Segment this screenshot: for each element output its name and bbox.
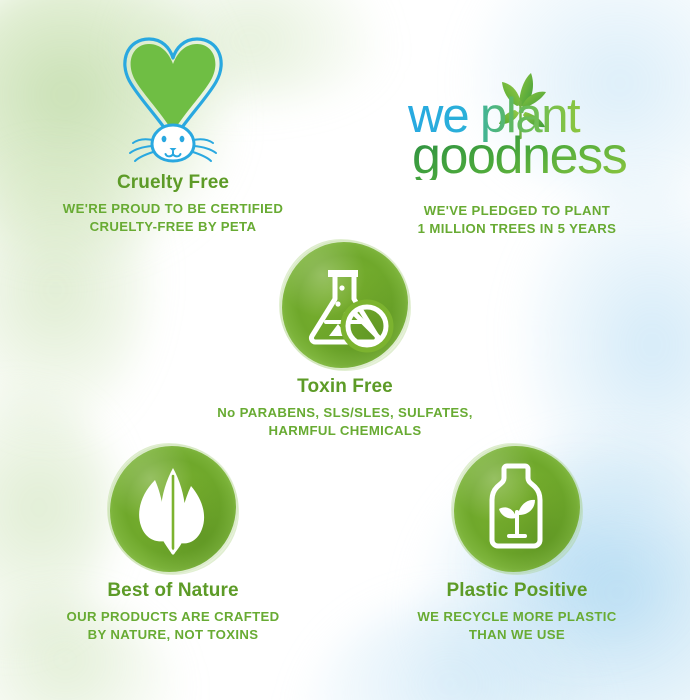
feature-subtitle: WE'RE PROUD TO BE CERTIFIED CRUELTY-FREE…: [8, 200, 338, 236]
feature-title: Best of Nature: [8, 580, 338, 602]
feature-title: Plastic Positive: [352, 580, 682, 602]
feature-subtitle-line: 1 MILLION TREES IN 5 YEARS: [352, 220, 682, 238]
feature-title: Toxin Free: [180, 376, 510, 398]
feature-subtitle-line: No PARABENS, SLS/SLES, SULFATES,: [180, 404, 510, 422]
bottle-sprout-icon: [454, 446, 580, 572]
feature-subtitle-line: WE'RE PROUD TO BE CERTIFIED: [8, 200, 338, 218]
badge-wrap: [180, 242, 510, 368]
brand-values-poster: Cruelty Free WE'RE PROUD TO BE CERTIFIED…: [0, 0, 690, 700]
feature-subtitle: OUR PRODUCTS ARE CRAFTED BY NATURE, NOT …: [8, 608, 338, 644]
feature-plastic-positive: Plastic Positive WE RECYCLE MORE PLASTIC…: [352, 446, 682, 644]
feature-subtitle-line: HARMFUL CHEMICALS: [180, 422, 510, 440]
feature-title: Cruelty Free: [8, 172, 338, 194]
feature-subtitle-line: CRUELTY-FREE BY PETA: [8, 218, 338, 236]
three-leaves-icon: [110, 446, 236, 572]
feature-subtitle-line: WE'VE PLEDGED TO PLANT: [352, 202, 682, 220]
badge-wrap: [8, 446, 338, 572]
toxin-free-badge: [282, 242, 408, 368]
plastic-positive-badge: [454, 446, 580, 572]
feature-subtitle-line: WE RECYCLE MORE PLASTIC: [352, 608, 682, 626]
feature-toxin-free: Toxin Free No PARABENS, SLS/SLES, SULFAT…: [180, 242, 510, 440]
feature-subtitle: WE RECYCLE MORE PLASTIC THAN WE USE: [352, 608, 682, 644]
feature-we-plant-goodness: we plant goodness WE'VE PLEDGED TO PLANT…: [352, 70, 682, 238]
badge-wrap: [352, 446, 682, 572]
svg-text:goodness: goodness: [412, 127, 627, 180]
feature-subtitle: No PARABENS, SLS/SLES, SULFATES, HARMFUL…: [180, 404, 510, 440]
feature-subtitle-line: OUR PRODUCTS ARE CRAFTED: [8, 608, 338, 626]
feature-subtitle: WE'VE PLEDGED TO PLANT 1 MILLION TREES I…: [352, 202, 682, 238]
best-of-nature-badge: [110, 446, 236, 572]
feature-best-of-nature: Best of Nature OUR PRODUCTS ARE CRAFTED …: [8, 446, 338, 644]
flask-no-entry-icon: [282, 242, 408, 368]
feature-subtitle-line: THAN WE USE: [352, 626, 682, 644]
peta-bunny-heart-icon: [8, 28, 338, 164]
we-plant-goodness-logo: we plant goodness: [352, 70, 682, 180]
feature-cruelty-free: Cruelty Free WE'RE PROUD TO BE CERTIFIED…: [8, 28, 338, 236]
feature-subtitle-line: BY NATURE, NOT TOXINS: [8, 626, 338, 644]
